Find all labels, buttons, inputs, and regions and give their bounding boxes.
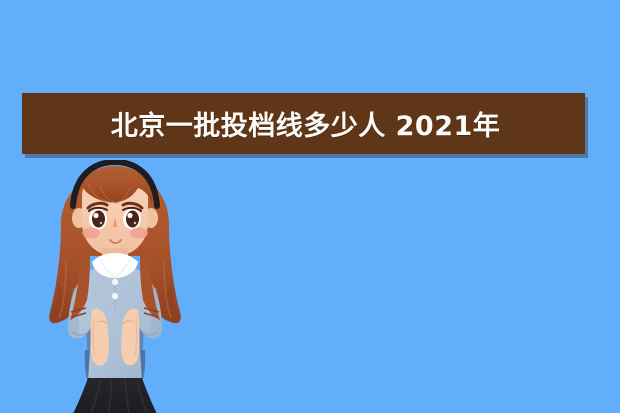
image-canvas: 北京一批投档线多少人 2021年 [0,0,620,413]
title-banner: 北京一批投档线多少人 2021年 [22,93,585,154]
page-title: 北京一批投档线多少人 2021年 [22,93,585,154]
schoolgirl-illustration [30,160,200,413]
skirt [64,378,166,413]
